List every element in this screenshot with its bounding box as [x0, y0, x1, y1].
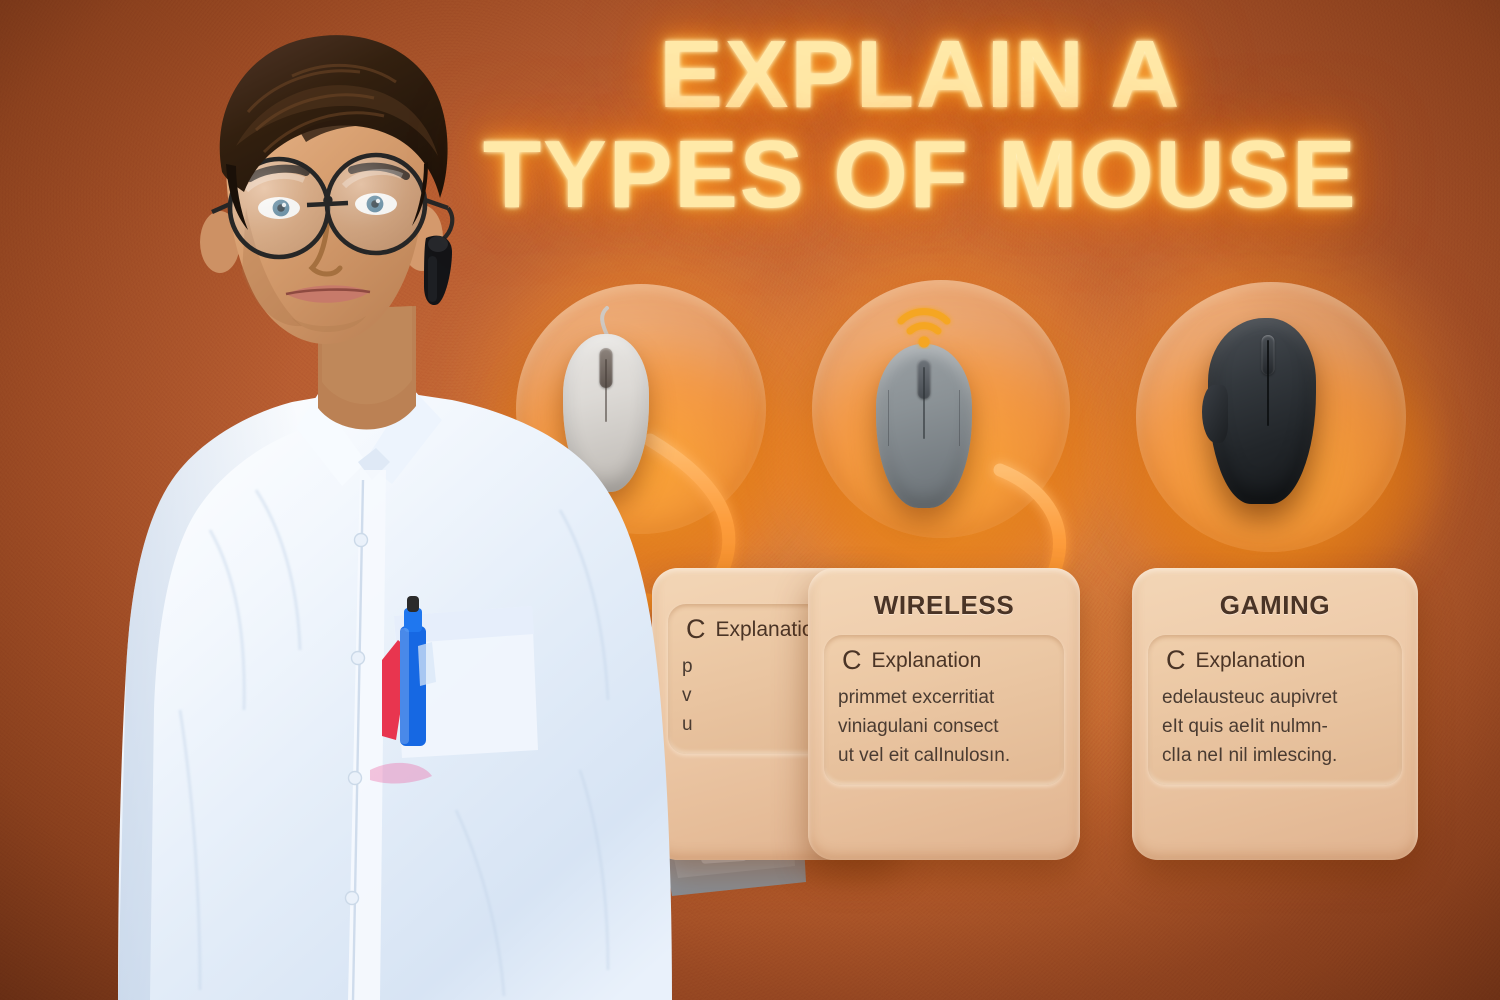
card-wireless-body-line-2: viniagulani consect [838, 713, 1050, 742]
shirt-button [349, 772, 362, 785]
c-icon: C [1166, 647, 1186, 674]
card-gaming-explanation-label: Explanation [1196, 649, 1306, 673]
wireless-mouse-left-seam [888, 390, 889, 446]
card-wireless[interactable]: WIRELESS C Explanation primmet excerriti… [808, 568, 1080, 860]
wireless-mouse-right-seam [959, 390, 960, 446]
poster-canvas: C Explanation p v u WIRELESS C Explanati… [0, 0, 1500, 1000]
card-wireless-panel: C Explanation primmet excerritiat viniag… [824, 635, 1064, 785]
card-gaming-explanation-head: C Explanation [1162, 647, 1388, 674]
card-wireless-explanation-label: Explanation [872, 649, 982, 673]
card-gaming-body-line-1: edelausteuc aupivret [1162, 684, 1388, 713]
shirt-button [352, 652, 365, 665]
card-gaming[interactable]: GAMING C Explanation edelausteuc aupivre… [1132, 568, 1418, 860]
gaming-mouse-thumb-rest [1202, 385, 1228, 443]
shirt-button [346, 892, 359, 905]
wifi-icon [893, 305, 955, 349]
card-wireless-body-line-1: primmet excerritiat [838, 684, 1050, 713]
card-gaming-body-line-3: clIa neI nil imlescing. [1162, 742, 1388, 771]
card-wireless-body-line-3: ut vel eit calInulosın. [838, 742, 1050, 771]
shirt-button [355, 534, 368, 547]
gaming-mouse-icon [1208, 318, 1316, 504]
wireless-mouse-icon [876, 344, 972, 508]
wireless-mouse-button-split [923, 367, 925, 439]
card-gaming-panel: C Explanation edelausteuc aupivret eIt q… [1148, 635, 1402, 785]
c-icon: C [842, 647, 862, 674]
card-gaming-title: GAMING [1148, 590, 1402, 621]
presenter-person [60, 10, 720, 1000]
gaming-mouse-button-split [1267, 340, 1269, 426]
card-wireless-explanation-head: C Explanation [838, 647, 1050, 674]
black-earbud [424, 236, 452, 305]
card-gaming-body-line-2: eIt quis aeIit nulmn- [1162, 713, 1388, 742]
card-wireless-title: WIRELESS [824, 590, 1064, 621]
